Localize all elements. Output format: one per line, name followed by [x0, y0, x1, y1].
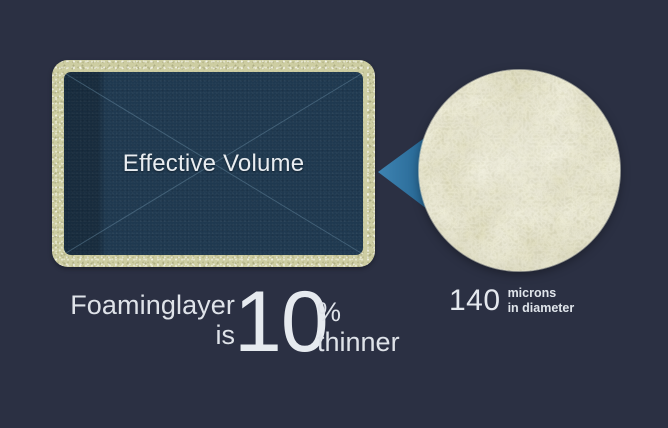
- micron-unit: microns in diameter: [508, 286, 575, 316]
- thinner-word: thinner: [317, 328, 400, 356]
- percent-symbol: %: [317, 298, 400, 326]
- infographic-canvas: Effective Volume: [0, 0, 668, 428]
- is-word: is: [55, 322, 235, 350]
- foaminglayer-word: Foaminglayer: [55, 292, 235, 320]
- effective-volume-block: Effective Volume: [52, 60, 375, 267]
- foam-texture-circle: [419, 70, 620, 271]
- micron-unit-line1: microns: [508, 286, 575, 301]
- micron-unit-line2: in diameter: [508, 301, 575, 316]
- effective-volume-label: Effective Volume: [64, 150, 363, 178]
- micron-value: 140: [449, 286, 501, 316]
- foam-texture-graphic: [419, 70, 620, 271]
- thinner-caption-left: Foaminglayer is: [55, 292, 235, 349]
- effective-volume-panel: Effective Volume: [64, 72, 363, 255]
- thinner-percent-value: 10: [234, 279, 328, 365]
- thinner-caption-right: % thinner: [317, 298, 400, 357]
- micron-caption: 140 microns in diameter: [449, 286, 574, 316]
- thinner-caption: Foaminglayer is 10 % thinner: [66, 292, 411, 368]
